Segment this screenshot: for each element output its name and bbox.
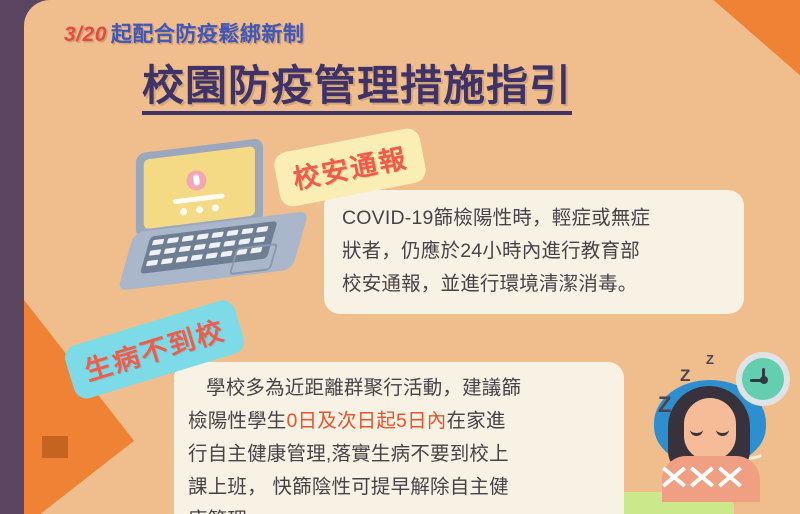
clock-icon [736,352,790,406]
section-card-stay-home: 學校多為近距離群聚行活動，建議篩 檢陽性學生0日及次日起5日內在家進 行自主健康… [174,362,624,514]
corner-fold-shadow [42,436,68,458]
page-title: 校園防疫管理措施指引 [24,52,800,113]
body-line: 狀者，仍應於24小時內進行教育部 [342,235,726,268]
header-subtitle: 3/20起配合防疫鬆綁新制 [64,18,304,48]
highlighted-duration-text: 0日及次日起5日內 [287,410,447,432]
section-body-school-report: COVID-19篩檢陽性時，輕症或無症 狀者，仍應於24小時內進行教育部 校安通… [342,202,726,301]
page-title-text: 校園防疫管理措施指引 [142,62,572,115]
body-line: 行自主健康管理,落實生病不要到校上 [188,438,610,471]
sleep-z-icon: Z [680,366,690,386]
body-line: COVID-19篩檢陽性時，輕症或無症 [342,202,726,235]
page-sheet: 3/20起配合防疫鬆綁新制 校園防疫管理措施指引 COVID-19篩檢陽性時，輕… [24,0,800,514]
body-line-part: 在家進 [447,410,506,432]
sleeping-person-illustration: Z Z Z [636,352,796,502]
infographic-poster: 3/20起配合防疫鬆綁新制 校園防疫管理措施指引 COVID-19篩檢陽性時，輕… [0,0,800,514]
sleep-z-icon: Z [706,352,714,367]
blanket-pattern-x-icon [716,464,742,490]
body-line: 康管理 [188,504,610,514]
blanket-pattern-x-icon [660,464,686,490]
body-line: 校安通報，並進行環境清潔消毒。 [342,268,726,301]
body-line: 學校多為近距離群聚行活動，建議篩 [188,372,610,405]
blanket-pattern-x-icon [688,464,714,490]
body-line: 檢陽性學生0日及次日起5日內在家進 [188,405,610,438]
section-card-school-report: COVID-19篩檢陽性時，輕症或無症 狀者，仍應於24小時內進行教育部 校安通… [324,190,744,314]
body-line: 課上班， 快篩陰性可提早解除自主健 [188,471,610,504]
left-edge-strip [0,0,24,514]
sleep-z-icon: Z [658,392,671,418]
clock-center-pin [760,376,768,384]
effective-date-text: 3/20 [64,23,107,46]
section-body-stay-home: 學校多為近距離群聚行活動，建議篩 檢陽性學生0日及次日起5日內在家進 行自主健康… [188,372,610,514]
body-line-part: 檢陽性學生 [188,410,287,432]
subtitle-text: 起配合防疫鬆綁新制 [111,23,305,46]
